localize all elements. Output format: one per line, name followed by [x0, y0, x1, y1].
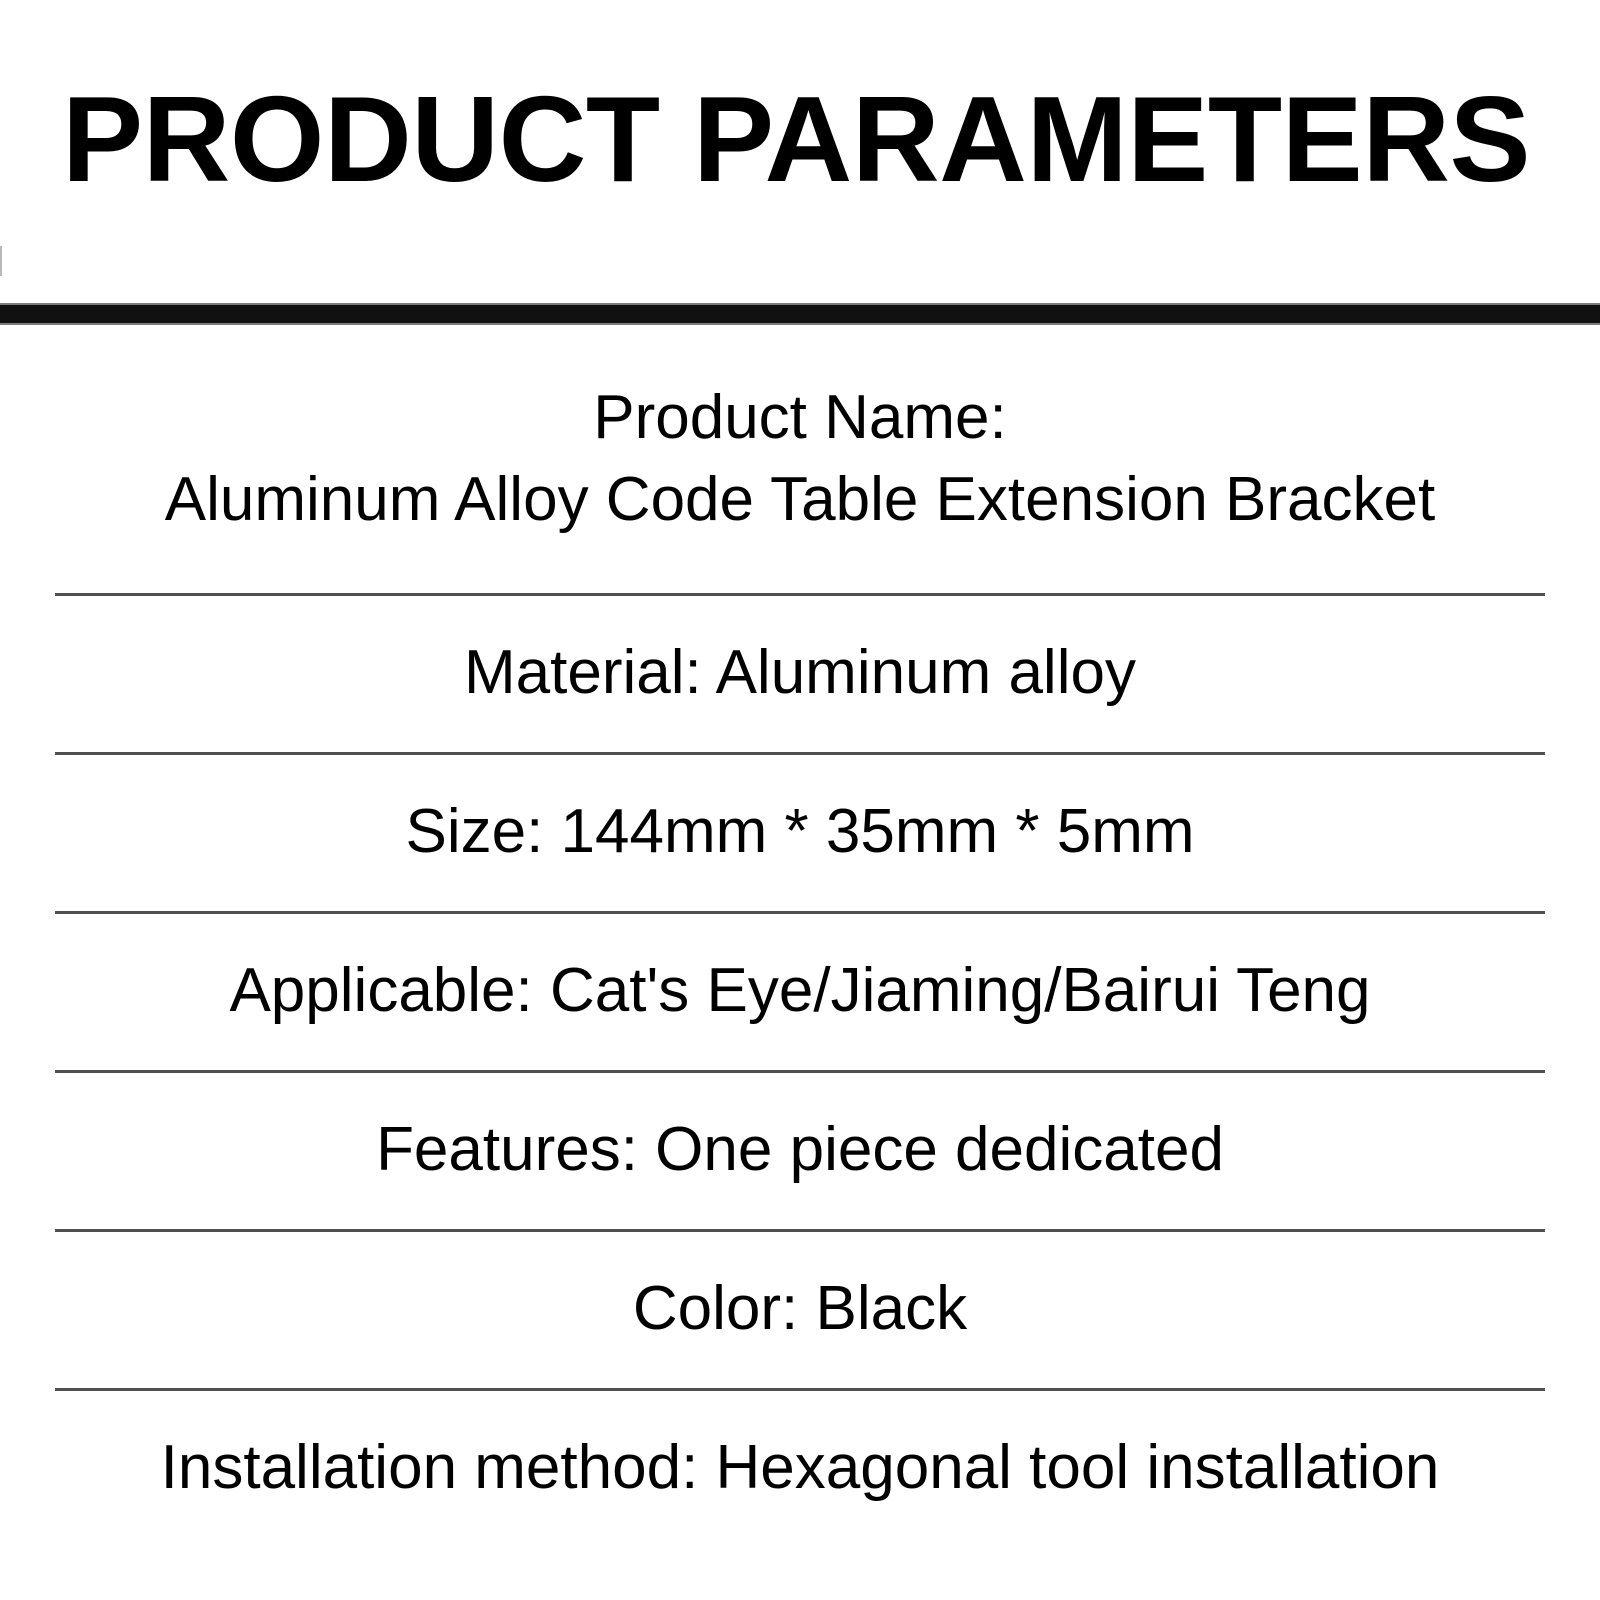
spec-value-installation-method: Installation method: Hexagonal tool inst… — [121, 1427, 1480, 1509]
left-edge-tick — [0, 246, 2, 276]
product-parameters-page: PRODUCT PARAMETERS Product Name: Aluminu… — [0, 0, 1600, 1600]
spec-value-material: Material: Aluminum alloy — [424, 632, 1176, 714]
title-block: PRODUCT PARAMETERS — [0, 0, 1600, 305]
spec-row-installation-method: Installation method: Hexagonal tool inst… — [0, 1388, 1600, 1547]
spec-row-size: Size: 144mm * 35mm * 5mm — [0, 752, 1600, 911]
spec-row-features: Features: One piece dedicated — [0, 1070, 1600, 1229]
spec-value-applicable: Applicable: Cat's Eye/Jiaming/Bairui Ten… — [189, 950, 1410, 1032]
spec-value-product-name: Product Name: Aluminum Alloy Code Table … — [125, 377, 1476, 541]
spec-value-color: Color: Black — [593, 1268, 1007, 1350]
spec-row-applicable: Applicable: Cat's Eye/Jiaming/Bairui Ten… — [0, 911, 1600, 1070]
title-divider — [0, 303, 1600, 325]
page-title: PRODUCT PARAMETERS — [62, 78, 1529, 200]
spec-table: Product Name: Aluminum Alloy Code Table … — [0, 325, 1600, 1547]
spec-value-features: Features: One piece dedicated — [336, 1109, 1264, 1191]
spec-row-material: Material: Aluminum alloy — [0, 593, 1600, 752]
spec-row-product-name: Product Name: Aluminum Alloy Code Table … — [0, 325, 1600, 593]
spec-value-size: Size: 144mm * 35mm * 5mm — [366, 791, 1235, 873]
spec-row-color: Color: Black — [0, 1229, 1600, 1388]
